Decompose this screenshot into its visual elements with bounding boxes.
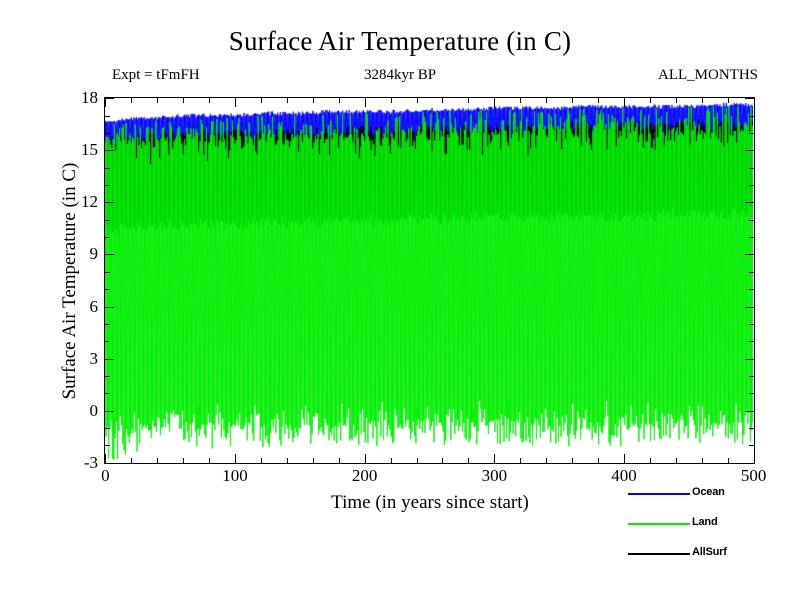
y-minor-tick-right	[749, 341, 754, 342]
y-major-tick	[105, 254, 114, 255]
y-major-tick-right	[745, 463, 754, 464]
x-minor-tick-top	[209, 98, 210, 103]
y-minor-tick	[105, 272, 110, 273]
y-minor-tick	[105, 289, 110, 290]
y-major-tick-right	[745, 150, 754, 151]
x-minor-tick-top	[572, 98, 573, 103]
y-minor-tick	[105, 428, 110, 429]
y-minor-tick-right	[749, 445, 754, 446]
y-minor-tick	[105, 116, 110, 117]
x-minor-tick	[546, 458, 547, 463]
x-major-tick	[365, 454, 366, 463]
x-minor-tick	[520, 458, 521, 463]
y-major-tick-right	[745, 254, 754, 255]
x-tick-label: 100	[195, 467, 275, 485]
x-major-tick-top	[624, 98, 625, 107]
y-major-tick-right	[745, 307, 754, 308]
x-minor-tick	[183, 458, 184, 463]
x-minor-tick	[676, 458, 677, 463]
x-minor-tick-top	[676, 98, 677, 103]
y-minor-tick	[105, 168, 110, 169]
x-minor-tick	[442, 458, 443, 463]
y-minor-tick-right	[749, 185, 754, 186]
x-minor-tick-top	[598, 98, 599, 103]
y-minor-tick-right	[749, 133, 754, 134]
y-major-tick	[105, 202, 114, 203]
y-major-tick-right	[745, 359, 754, 360]
x-minor-tick	[313, 458, 314, 463]
x-major-tick-top	[494, 98, 495, 107]
x-minor-tick-top	[468, 98, 469, 103]
y-axis-title: Surface Air Temperature (in C)	[59, 116, 81, 446]
x-minor-tick	[391, 458, 392, 463]
x-minor-tick-top	[157, 98, 158, 103]
x-minor-tick-top	[261, 98, 262, 103]
y-major-tick	[105, 411, 114, 412]
y-minor-tick-right	[749, 237, 754, 238]
x-minor-tick-top	[442, 98, 443, 103]
x-minor-tick-top	[183, 98, 184, 103]
y-minor-tick-right	[749, 289, 754, 290]
y-minor-tick	[105, 341, 110, 342]
x-minor-tick	[261, 458, 262, 463]
y-minor-tick-right	[749, 428, 754, 429]
x-minor-tick	[728, 458, 729, 463]
x-major-tick-top	[105, 98, 106, 107]
y-tick-label: 12	[52, 193, 98, 211]
y-minor-tick-right	[749, 168, 754, 169]
y-major-tick-right	[745, 411, 754, 412]
y-tick-label: -3	[52, 454, 98, 472]
x-major-tick-top	[365, 98, 366, 107]
x-minor-tick	[131, 458, 132, 463]
legend-item: AllSurf	[628, 544, 788, 574]
legend-label: AllSurf	[692, 545, 727, 559]
x-tick-label: 200	[325, 467, 405, 485]
x-minor-tick	[468, 458, 469, 463]
x-minor-tick	[417, 458, 418, 463]
y-major-tick	[105, 150, 114, 151]
legend-item: Ocean	[628, 484, 788, 514]
y-minor-tick	[105, 133, 110, 134]
legend-item: Land	[628, 514, 788, 544]
y-tick-label: 3	[52, 350, 98, 368]
x-minor-tick	[598, 458, 599, 463]
x-minor-tick-top	[417, 98, 418, 103]
legend-swatch-line	[628, 553, 690, 555]
x-minor-tick-top	[728, 98, 729, 103]
chart-canvas: Surface Air Temperature (in C) Expt = tF…	[0, 0, 800, 600]
x-minor-tick-top	[546, 98, 547, 103]
x-tick-label: 300	[454, 467, 534, 485]
x-minor-tick	[287, 458, 288, 463]
x-minor-tick-top	[391, 98, 392, 103]
legend-swatch-line	[628, 523, 690, 525]
x-minor-tick	[157, 458, 158, 463]
x-minor-tick-top	[339, 98, 340, 103]
legend-label: Ocean	[692, 485, 725, 499]
x-tick-label: 500	[714, 467, 794, 485]
x-minor-tick	[209, 458, 210, 463]
y-minor-tick	[105, 185, 110, 186]
x-minor-tick	[702, 458, 703, 463]
plot-clip	[105, 98, 754, 463]
y-major-tick	[105, 98, 114, 99]
plot-area	[104, 97, 755, 464]
x-major-tick	[494, 454, 495, 463]
x-minor-tick	[572, 458, 573, 463]
months-label: ALL_MONTHS	[658, 67, 758, 84]
series-plot	[105, 98, 753, 462]
y-tick-label: 18	[52, 89, 98, 107]
legend-swatch-line	[628, 493, 690, 495]
chart-title: Surface Air Temperature (in C)	[0, 26, 800, 56]
x-minor-tick	[339, 458, 340, 463]
y-tick-label: 0	[52, 402, 98, 420]
x-major-tick-top	[754, 98, 755, 107]
y-minor-tick-right	[749, 116, 754, 117]
chart-legend: OceanLandAllSurf	[628, 484, 788, 574]
x-major-tick	[754, 454, 755, 463]
y-tick-label: 6	[52, 298, 98, 316]
y-major-tick	[105, 359, 114, 360]
y-minor-tick-right	[749, 220, 754, 221]
y-minor-tick	[105, 220, 110, 221]
y-minor-tick	[105, 393, 110, 394]
legend-label: Land	[692, 515, 717, 529]
x-minor-tick	[650, 458, 651, 463]
x-minor-tick-top	[650, 98, 651, 103]
x-major-tick	[105, 454, 106, 463]
y-minor-tick	[105, 237, 110, 238]
y-minor-tick-right	[749, 324, 754, 325]
x-minor-tick-top	[287, 98, 288, 103]
y-major-tick-right	[745, 202, 754, 203]
x-major-tick	[235, 454, 236, 463]
y-major-tick-right	[745, 98, 754, 99]
x-minor-tick-top	[702, 98, 703, 103]
x-major-tick	[624, 454, 625, 463]
y-major-tick	[105, 307, 114, 308]
y-tick-label: 15	[52, 141, 98, 159]
x-tick-label: 400	[584, 467, 664, 485]
y-minor-tick-right	[749, 272, 754, 273]
x-minor-tick-top	[131, 98, 132, 103]
y-minor-tick	[105, 376, 110, 377]
x-major-tick-top	[235, 98, 236, 107]
y-minor-tick-right	[749, 376, 754, 377]
y-minor-tick	[105, 324, 110, 325]
y-minor-tick	[105, 445, 110, 446]
y-minor-tick-right	[749, 393, 754, 394]
x-minor-tick-top	[520, 98, 521, 103]
y-tick-label: 9	[52, 245, 98, 263]
x-minor-tick-top	[313, 98, 314, 103]
y-major-tick	[105, 463, 114, 464]
